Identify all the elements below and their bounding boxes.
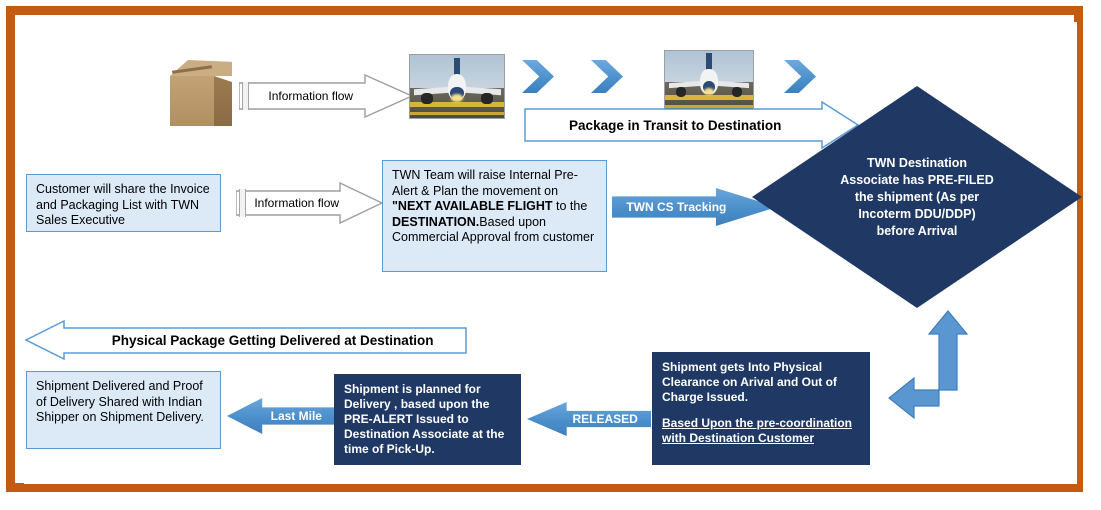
information-flow-arrow-top: Information flow xyxy=(239,74,414,118)
cardboard-box-icon xyxy=(170,60,232,126)
clearance-para-1: Shipment gets Into Physical Clearance on… xyxy=(662,360,860,405)
diamond-line-2: Associate has PRE-FILED xyxy=(811,172,1022,189)
elbow-arrow-shape xyxy=(886,310,972,420)
physical-package-label: Physical Package Getting Delivered at De… xyxy=(24,320,468,360)
released-arrow: RELEASED xyxy=(527,402,651,436)
shipment-planned-text: Shipment is planned for Delivery , based… xyxy=(344,382,504,456)
twn-cs-tracking-arrow: TWN CS Tracking xyxy=(612,188,777,226)
diamond-text-block: TWN Destination Associate has PRE-FILED … xyxy=(811,155,1022,240)
shipment-planned-box: Shipment is planned for Delivery , based… xyxy=(334,374,521,465)
physical-clearance-box: Shipment gets Into Physical Clearance on… xyxy=(652,352,870,465)
diamond-line-3: the shipment (As per xyxy=(811,189,1022,206)
shipment-delivered-text: Shipment Delivered and Proof of Delivery… xyxy=(36,379,204,424)
flowchart-canvas: Information flow Package i xyxy=(0,0,1101,510)
physical-package-banner: Physical Package Getting Delivered at De… xyxy=(24,320,468,360)
clearance-spacer xyxy=(662,405,860,416)
elbow-arrow-up-left xyxy=(886,310,972,420)
diamond-line-1: TWN Destination xyxy=(811,155,1022,172)
information-flow-label-middle: Information flow xyxy=(236,196,384,210)
clearance-para-2: Based Upon the pre-coordination with Des… xyxy=(662,416,860,446)
chevron-right-icon-1 xyxy=(522,60,554,93)
diamond-line-5: before Arrival xyxy=(811,223,1022,240)
twn-team-prealert-text: TWN Team will raise Internal Pre-Alert &… xyxy=(392,168,594,244)
information-flow-arrow-middle: Information flow xyxy=(236,181,384,225)
shipment-delivered-box: Shipment Delivered and Proof of Delivery… xyxy=(26,371,221,449)
chevron-right-icon-2 xyxy=(591,60,623,93)
diamond-line-4: Incoterm DDU/DDP) xyxy=(811,206,1022,223)
twn-team-prealert-box: TWN Team will raise Internal Pre-Alert &… xyxy=(382,160,607,272)
last-mile-label: Last Mile xyxy=(227,409,337,423)
customer-info-text: Customer will share the Invoice and Pack… xyxy=(36,182,210,227)
package-in-transit-label: Package in Transit to Destination xyxy=(524,101,860,149)
information-flow-label-top: Information flow xyxy=(239,89,414,103)
released-label: RELEASED xyxy=(527,412,651,426)
diagram-inner-area: Information flow Package i xyxy=(24,22,1077,484)
chevron-right-icon-3 xyxy=(784,60,816,93)
airplane-photo-icon-1 xyxy=(409,54,505,119)
twn-cs-tracking-label: TWN CS Tracking xyxy=(612,200,777,214)
last-mile-arrow: Last Mile xyxy=(227,398,337,434)
package-in-transit-banner: Package in Transit to Destination xyxy=(524,101,860,149)
customer-info-box: Customer will share the Invoice and Pack… xyxy=(26,174,221,232)
